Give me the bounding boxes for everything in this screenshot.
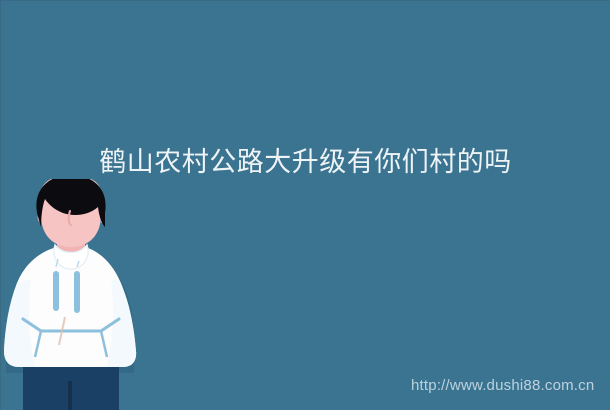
page-title: 鹤山农村公路大升级有你们村的吗 [1,146,610,180]
drawstring-left [53,271,59,311]
article-cover-banner: 鹤山农村公路大升级有你们村的吗 http://www.dushi88.com.c… [0,0,610,410]
person-illustration [1,179,161,410]
drawstring-right [74,271,80,313]
pants-leg-gap [68,381,72,410]
watermark-url: http://www.dushi88.com.cn [411,377,594,395]
